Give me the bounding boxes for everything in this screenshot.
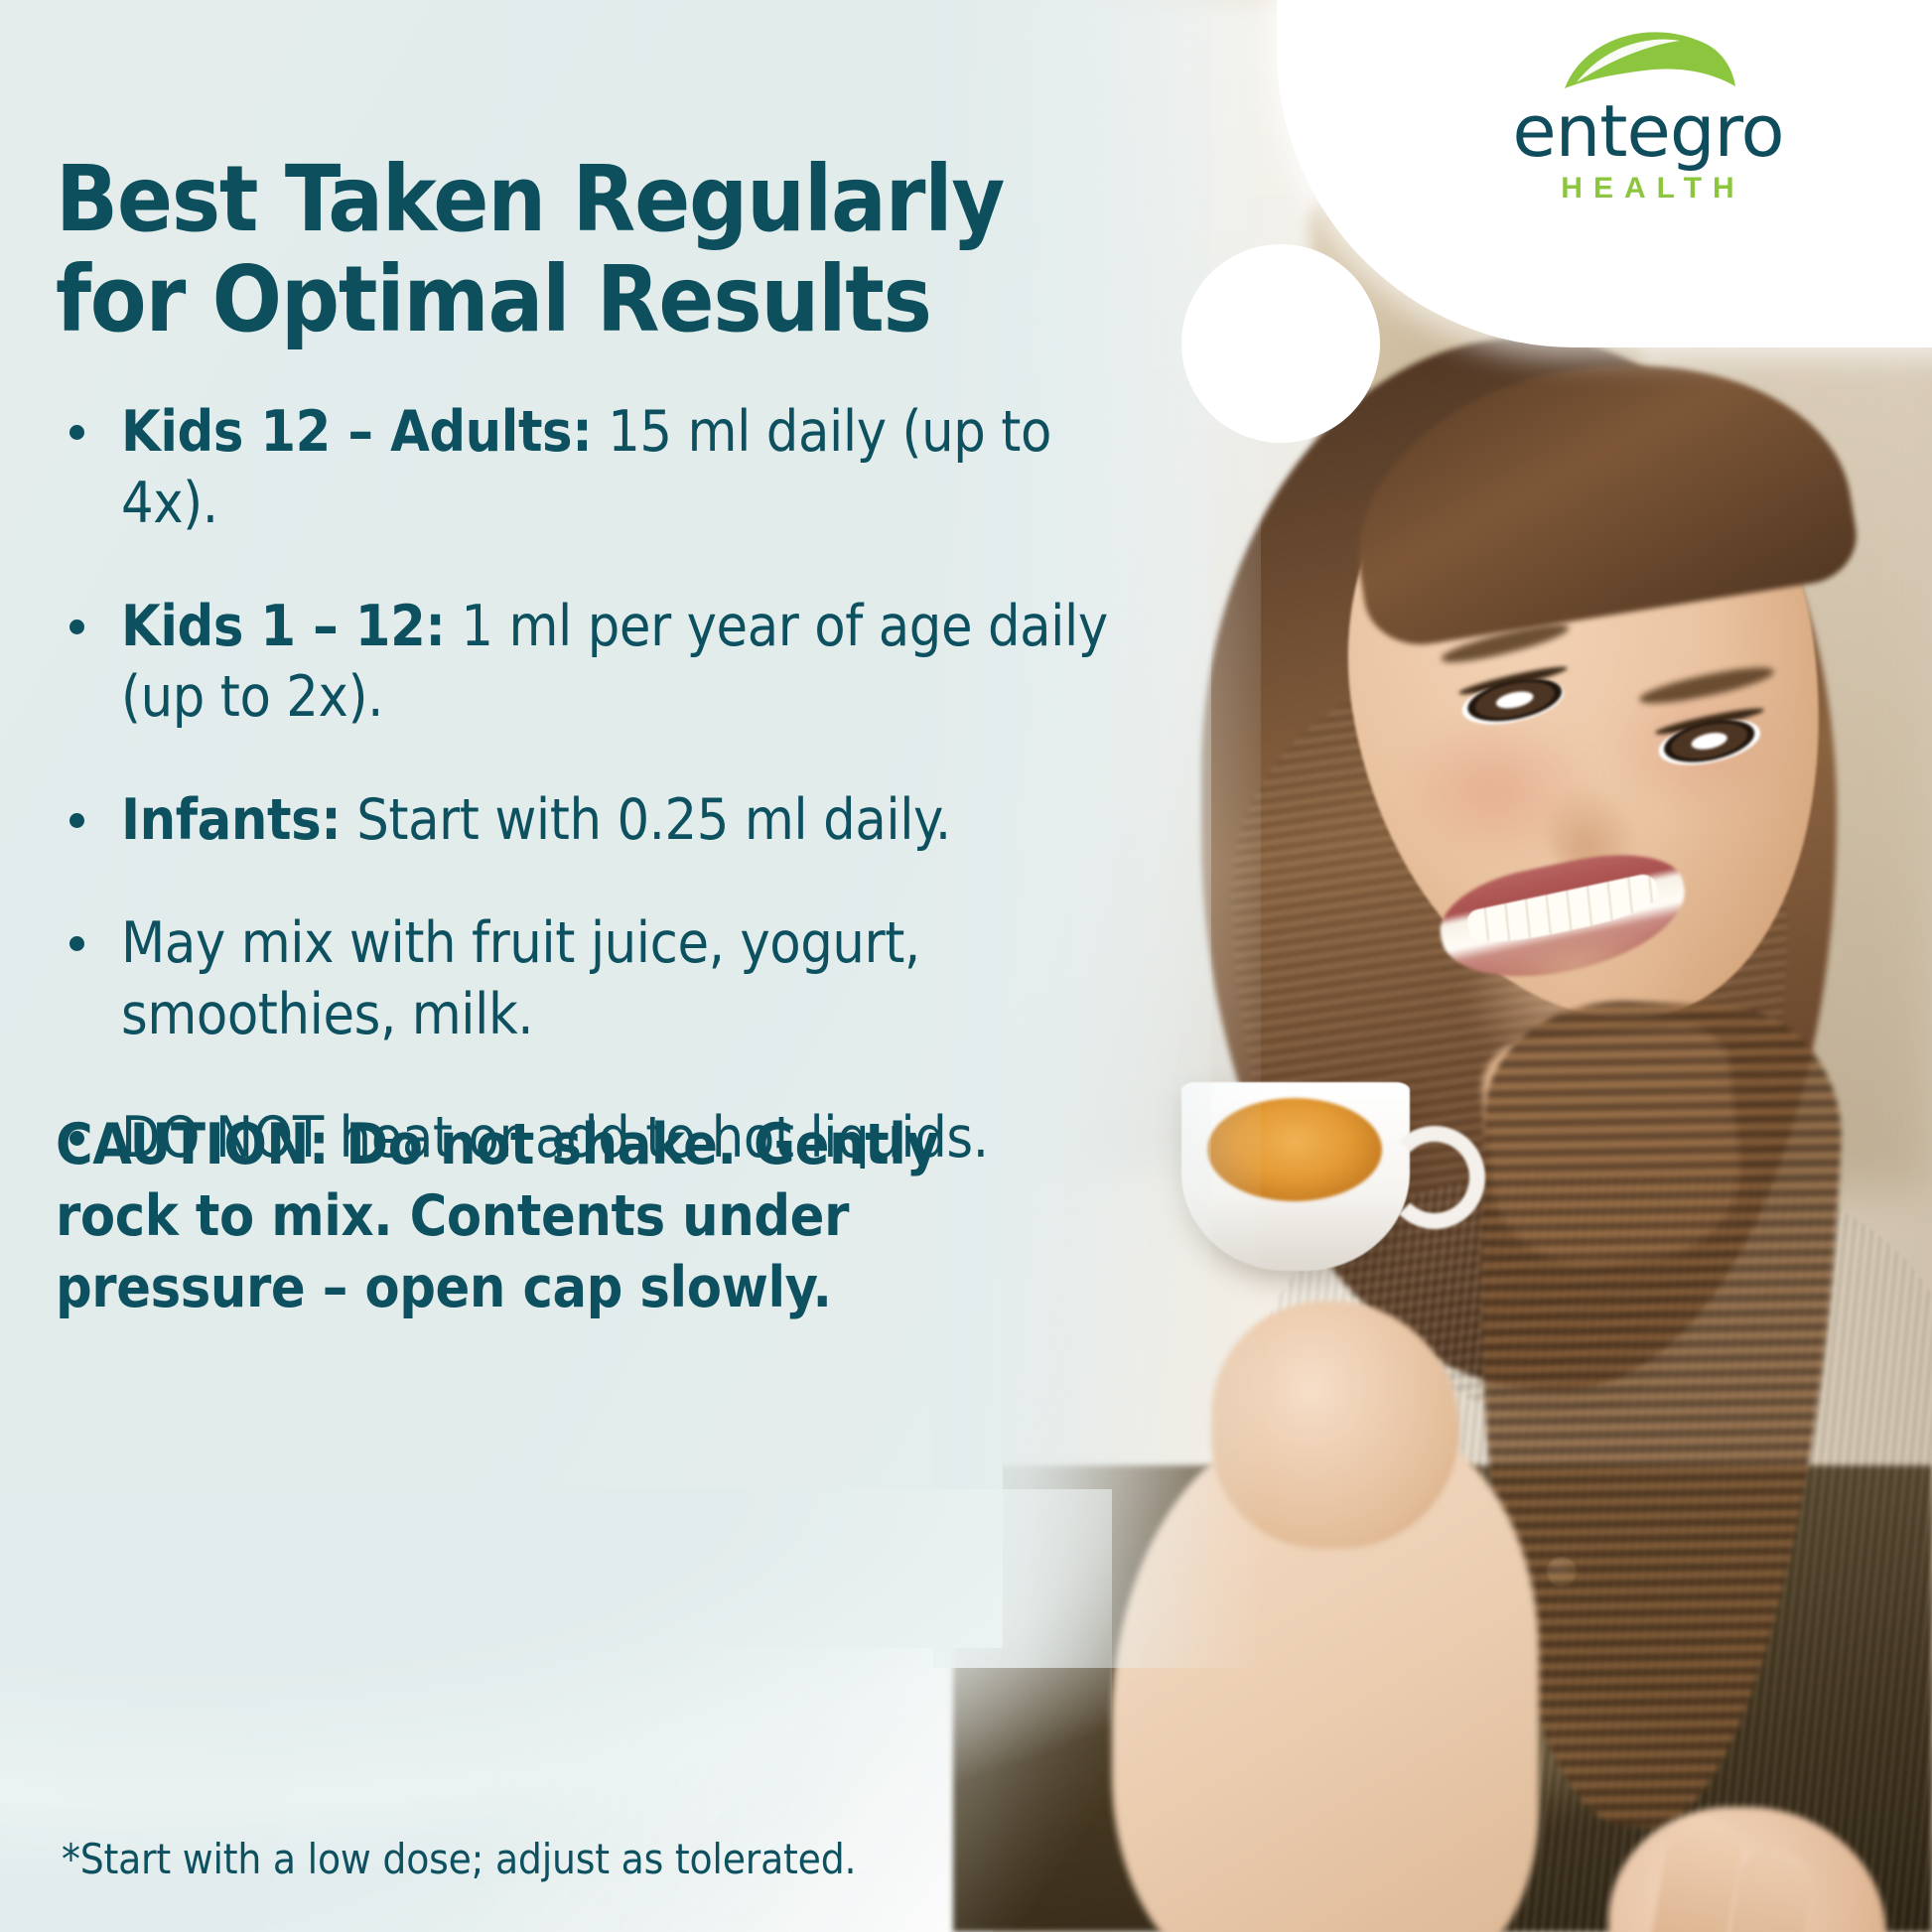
bullet-dot-icon <box>69 936 84 951</box>
photo-cup-handle <box>1384 1126 1485 1229</box>
footnote-disclaimer: *Start with a low dose; adjust as tolera… <box>62 1835 1104 1884</box>
list-item: Kids 12 – Adults: 15 ml daily (up to 4x)… <box>56 397 1158 540</box>
page-title: Best Taken Regularly for Optimal Results <box>56 149 1108 349</box>
bullet-lead: Kids 1 – 12: <box>121 594 445 659</box>
bullet-rest: Start with 0.25 ml daily. <box>341 787 950 853</box>
bullet-dot-icon <box>69 425 84 440</box>
brand-logo: entegro HEALTH <box>1459 22 1837 210</box>
text-content: Best Taken Regularly for Optimal Results… <box>0 0 1231 1932</box>
dosage-bullet-list: Kids 12 – Adults: 15 ml daily (up to 4x)… <box>56 397 1158 1226</box>
bullet-lead: Infants: <box>121 787 341 853</box>
poster-canvas: entegro HEALTH Best Taken Regularly for … <box>0 0 1932 1932</box>
list-item: Infants: Start with 0.25 ml daily. <box>56 785 1158 857</box>
bullet-dot-icon <box>69 620 84 634</box>
bullet-rest: May mix with fruit juice, yogurt, smooth… <box>121 910 920 1047</box>
headline-line-2: for Optimal Results <box>56 249 1108 349</box>
bullet-lead: Kids 12 – Adults: <box>121 399 592 465</box>
bullet-dot-icon <box>69 813 84 828</box>
leaf-icon <box>1559 27 1737 92</box>
caution-note: CAUTION: Do not shake. Gently rock to mi… <box>56 1110 1078 1323</box>
logo-wordmark: entegro <box>1512 98 1783 164</box>
list-item: Kids 1 – 12: 1 ml per year of age daily … <box>56 592 1158 735</box>
headline-line-1: Best Taken Regularly <box>56 149 1108 249</box>
list-item: May mix with fruit juice, yogurt, smooth… <box>56 908 1158 1051</box>
logo-tagline: HEALTH <box>1561 172 1744 206</box>
